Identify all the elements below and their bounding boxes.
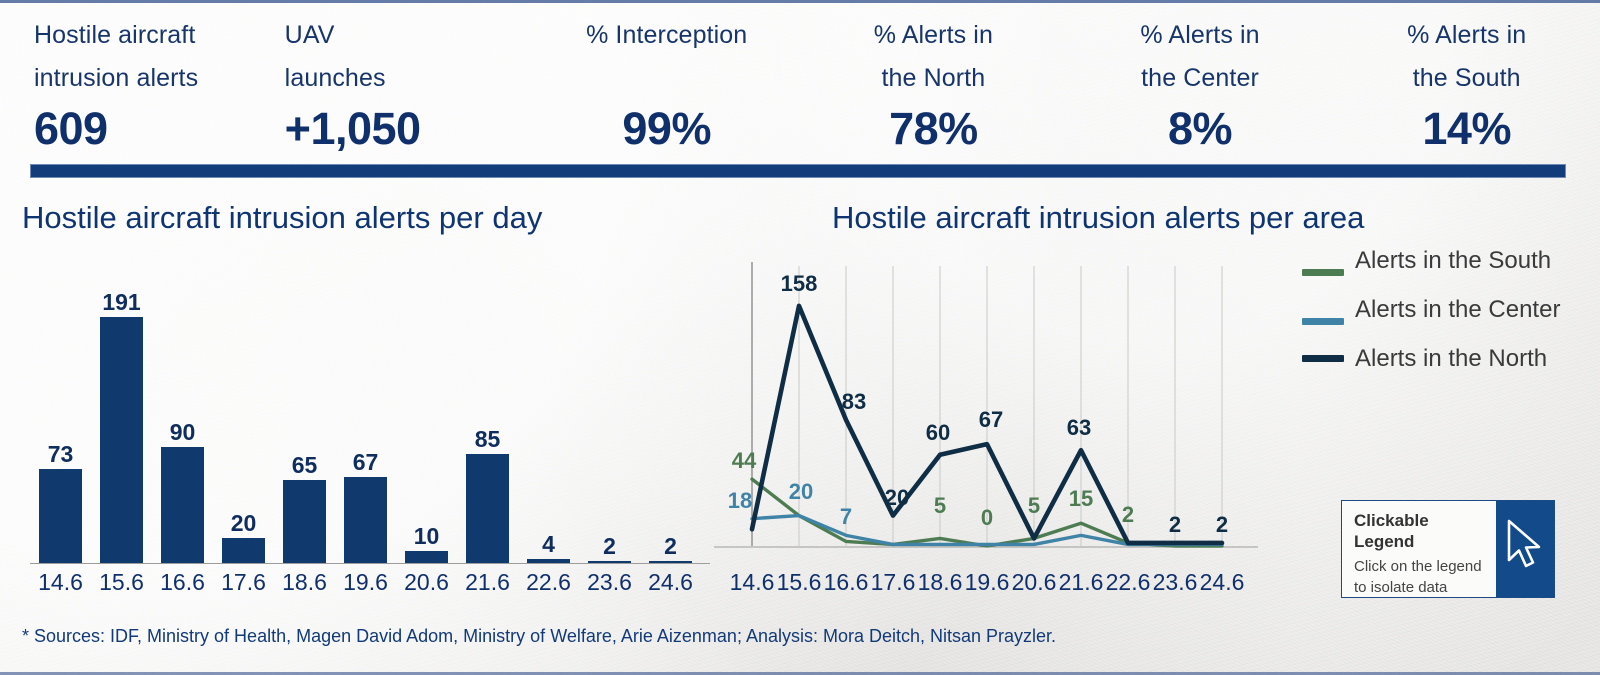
bar-column[interactable]: 2 [640,263,701,564]
bar-rect[interactable] [222,538,265,564]
kpi-label: % Interception [533,14,800,100]
clickable-legend-sub-line2: to isolate data [1354,577,1496,598]
legend-swatch-center [1302,318,1344,325]
bar-x-tick-label: 24.6 [640,567,701,597]
bar-column[interactable]: 65 [274,263,335,564]
bar-x-tick-label: 22.6 [518,567,579,597]
bar-column[interactable]: 10 [396,263,457,564]
bar-column[interactable]: 90 [152,263,213,564]
kpi-card-uav-launches: UAV launches +1,050 [267,6,534,156]
line-point-label: 20 [789,480,813,504]
line-x-tick-label: 16.6 [824,567,869,597]
legend-item-north[interactable]: Alerts in the North [1302,341,1594,376]
sources-footnote: * Sources: IDF, Ministry of Health, Mage… [22,625,1056,647]
bar-rect[interactable] [100,317,143,564]
bar-x-tick-label: 17.6 [213,567,274,597]
line-point-label: 2 [1122,503,1134,527]
bar-x-tick-label: 18.6 [274,567,335,597]
clickable-legend-title-line2: Legend [1354,531,1496,552]
legend-label-north: Alerts in the North [1355,341,1547,376]
bar-value-label: 10 [414,523,440,549]
kpi-card-alerts-center: % Alerts in the Center 8% [1067,6,1334,156]
line-point-label: 7 [840,505,852,529]
bar-value-label: 191 [102,289,140,315]
legend-swatch-south [1302,269,1344,276]
bar-rect[interactable] [466,454,509,564]
line-point-label: 2 [1169,513,1181,537]
line-point-label: 15 [1069,487,1093,511]
line-point-label: 158 [781,272,818,296]
kpi-label-line1: % Alerts in [1333,14,1600,57]
kpi-label: % Alerts in the South [1333,14,1600,100]
kpi-value: 8% [1067,101,1334,157]
bar-column[interactable]: 67 [335,263,396,564]
line-point-label: 60 [926,421,950,445]
kpi-value: 99% [533,101,800,157]
line-point-label: 67 [979,408,1003,432]
clickable-legend-title-line1: Clickable [1354,510,1496,531]
bar-value-label: 4 [542,531,555,557]
line-x-tick-label: 21.6 [1059,567,1104,597]
bar-value-label: 2 [603,533,616,559]
bar-column[interactable]: 191 [91,263,152,564]
bar-x-axis-ticks: 14.615.616.617.618.619.620.621.622.623.6… [30,567,702,601]
section-divider [30,164,1566,178]
line-point-label: 83 [842,390,866,414]
line-point-label: 18 [728,489,752,513]
kpi-value: 609 [0,101,267,157]
kpi-card-alerts-north: % Alerts in the North 78% [800,6,1067,156]
line-x-tick-label: 22.6 [1106,567,1151,597]
line-chart-title: Hostile aircraft intrusion alerts per ar… [832,200,1364,236]
kpi-label-line1: % Alerts in [1067,14,1334,57]
clickable-legend-sub-line1: Click on the legend [1354,556,1496,577]
bar-column[interactable]: 85 [457,263,518,564]
legend-swatch-north [1302,355,1344,362]
kpi-label-line2: intrusion alerts [34,57,267,100]
line-point-label: 44 [732,449,756,473]
line-point-label: 5 [1028,494,1040,518]
line-x-tick-label: 19.6 [965,567,1010,597]
clickable-legend-title: Clickable Legend [1354,510,1496,552]
kpi-card-hostile-aircraft-intrusion-alerts: Hostile aircraft intrusion alerts 609 [0,6,267,156]
bar-rect[interactable] [39,469,82,564]
kpi-label-line2 [533,57,800,100]
kpi-label-line2: the North [800,57,1067,100]
bar-column[interactable]: 73 [30,263,91,564]
bar-value-label: 65 [292,452,318,478]
kpi-card-alerts-south: % Alerts in the South 14% [1333,6,1600,156]
line-x-tick-label: 20.6 [1012,567,1057,597]
kpi-card-interception: % Interception 99% [533,6,800,156]
bar-value-label: 90 [170,419,196,445]
kpi-value: 14% [1333,101,1600,157]
kpi-label-line1: Hostile aircraft [34,14,267,57]
bar-value-label: 73 [48,441,74,467]
bar-x-axis-line [30,563,710,564]
line-x-tick-label: 15.6 [777,567,822,597]
bar-chart: 73191902065671085422 14.615.616.617.618.… [22,262,712,597]
kpi-label: % Alerts in the North [800,14,1067,100]
top-rule [0,0,1600,3]
dashboard-page: Hostile aircraft intrusion alerts 609 UA… [0,0,1600,675]
bar-value-label: 85 [475,426,501,452]
kpi-value: 78% [800,101,1067,157]
line-x-tick-label: 18.6 [918,567,963,597]
line-chart: 1588320606763221820744505152 14.615.616.… [706,262,1266,597]
line-point-label: 2 [1216,513,1228,537]
bar-value-label: 2 [664,533,677,559]
line-point-label: 5 [934,494,946,518]
kpi-label: Hostile aircraft intrusion alerts [0,14,267,100]
line-x-tick-label: 14.6 [730,567,775,597]
cursor-arrow-icon [1496,501,1554,597]
line-x-axis-ticks: 14.615.616.617.618.619.620.621.622.623.6… [706,567,1266,601]
bar-column[interactable]: 2 [579,263,640,564]
kpi-label-line2: the Center [1067,57,1334,100]
bar-x-tick-label: 20.6 [396,567,457,597]
line-x-tick-label: 23.6 [1153,567,1198,597]
kpi-value: +1,050 [267,101,534,157]
line-x-tick-label: 17.6 [871,567,916,597]
bar-x-tick-label: 16.6 [152,567,213,597]
line-point-label: 0 [981,506,993,530]
clickable-legend-subtitle: Click on the legend to isolate data [1354,556,1496,598]
clickable-legend-text: Clickable Legend Click on the legend to … [1342,501,1496,597]
bar-x-tick-label: 21.6 [457,567,518,597]
bar-column[interactable]: 20 [213,263,274,564]
bar-value-label: 67 [353,449,379,475]
bar-value-label: 20 [231,510,257,536]
kpi-label-line2: launches [285,57,534,100]
legend-item-south[interactable]: Alerts in the South [1302,243,1594,278]
kpi-label-line1: UAV [285,14,534,57]
bar-x-tick-label: 14.6 [30,567,91,597]
bar-plot-area: 73191902065671085422 [30,262,702,564]
legend-item-center[interactable]: Alerts in the Center [1302,292,1594,327]
bar-x-tick-label: 15.6 [91,567,152,597]
legend-label-south: Alerts in the South [1355,243,1551,278]
kpi-row: Hostile aircraft intrusion alerts 609 UA… [0,6,1600,156]
bar-rect[interactable] [344,477,387,564]
bar-chart-title: Hostile aircraft intrusion alerts per da… [22,200,542,236]
line-point-label: 20 [885,486,909,510]
bar-rect[interactable] [161,447,204,564]
kpi-label-line1: % Alerts in [800,14,1067,57]
kpi-label-line1: % Interception [533,14,800,57]
line-x-tick-label: 24.6 [1200,567,1245,597]
bar-rect[interactable] [283,480,326,564]
bar-x-tick-label: 19.6 [335,567,396,597]
kpi-label: UAV launches [267,14,534,100]
kpi-label-line2: the South [1333,57,1600,100]
line-point-label: 63 [1067,416,1091,440]
kpi-label: % Alerts in the Center [1067,14,1334,100]
bar-column[interactable]: 4 [518,263,579,564]
bar-x-tick-label: 23.6 [579,567,640,597]
chart-legend[interactable]: Alerts in the South Alerts in the Center… [1302,243,1594,390]
legend-label-center: Alerts in the Center [1355,292,1560,327]
clickable-legend-hint: Clickable Legend Click on the legend to … [1341,500,1555,598]
